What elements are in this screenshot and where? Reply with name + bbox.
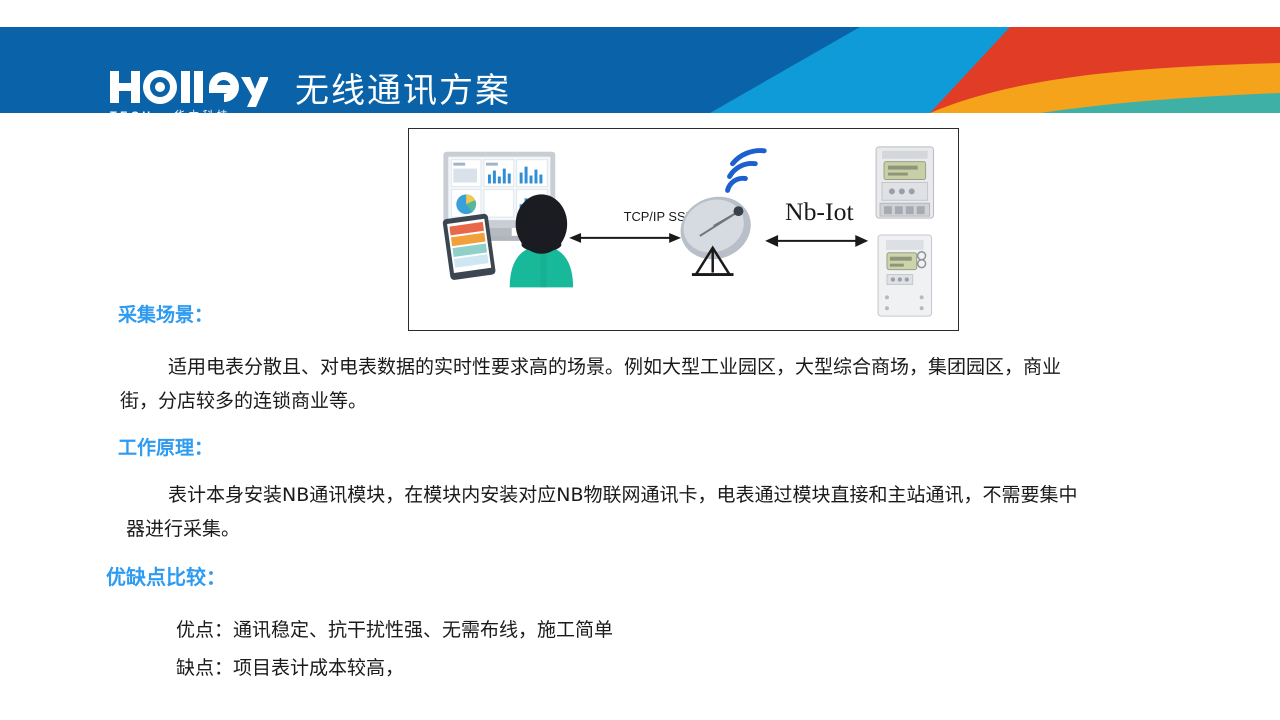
section-heading-scene: 采集场景： — [118, 303, 213, 327]
page-title: 无线通讯方案 — [295, 71, 511, 111]
paragraph-line: 街，分店较多的连锁商业等。 — [120, 384, 1210, 418]
smart-meter-top-icon — [876, 147, 933, 218]
logo-sub-right: 华立科技 — [174, 108, 231, 113]
comparison-pros: 优点：通讯稳定、抗干扰性强、无需布线，施工简单 — [176, 613, 613, 647]
section-body-principle: 表计本身安装NB通讯模块，在模块内安装对应NB物联网通讯卡，电表通过模块直接和主… — [120, 478, 1210, 546]
holley-logo: TECH 华立科技 — [108, 67, 268, 113]
paragraph-line: 器进行采集。 — [126, 512, 1210, 546]
holley-logo-icon: TECH 华立科技 — [108, 67, 268, 113]
link-right-label: Nb-Iot — [785, 197, 854, 226]
tablet-icon — [442, 213, 496, 280]
header-decorative-swoosh — [680, 27, 1280, 113]
smart-meter-bottom-icon — [878, 235, 931, 316]
link-nbiot: Nb-Iot — [765, 197, 868, 247]
paragraph-line: 表计本身安装NB通讯模块，在模块内安装对应NB物联网通讯卡，电表通过模块直接和主… — [120, 478, 1210, 512]
link-tcpip-ssl: TCP/IP SSL — [569, 209, 693, 243]
paragraph-line: 适用电表分散且、对电表数据的实时性要求高的场景。例如大型工业园区，大型综合商场，… — [120, 350, 1210, 384]
diagram-container: TCP/IP SSL Nb-Iot — [408, 128, 959, 331]
comparison-cons: 缺点：项目表计成本较高， — [176, 651, 404, 685]
page-header: TECH 华立科技 无线通讯方案 — [0, 27, 1280, 113]
section-heading-principle: 工作原理： — [118, 436, 213, 460]
section-body-scene: 适用电表分散且、对电表数据的实时性要求高的场景。例如大型工业园区，大型综合商场，… — [120, 350, 1210, 418]
logo-sub-left: TECH — [110, 110, 154, 113]
section-heading-comparison: 优缺点比较： — [106, 565, 226, 589]
wireless-topology-diagram: TCP/IP SSL Nb-Iot — [409, 129, 958, 330]
